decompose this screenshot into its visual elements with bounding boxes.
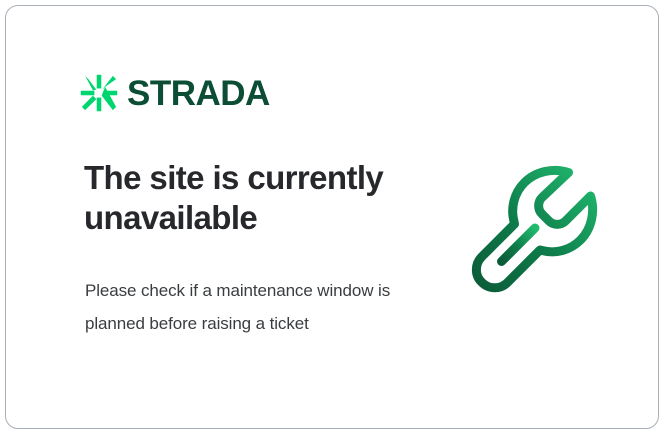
page-description: Please check if a maintenance window is … [85,274,405,340]
status-card: STRADA The site is currently unavailable… [5,5,659,429]
brand-wordmark: STRADA [127,76,270,111]
page-title: The site is currently unavailable [84,158,414,238]
strada-asterisk-icon [80,74,118,112]
wrench-illustration [461,161,617,317]
status-card-content: STRADA The site is currently unavailable… [6,6,658,428]
status-page: STRADA The site is currently unavailable… [0,0,666,436]
wrench-icon [476,170,592,287]
brand-lockup: STRADA [80,74,270,112]
